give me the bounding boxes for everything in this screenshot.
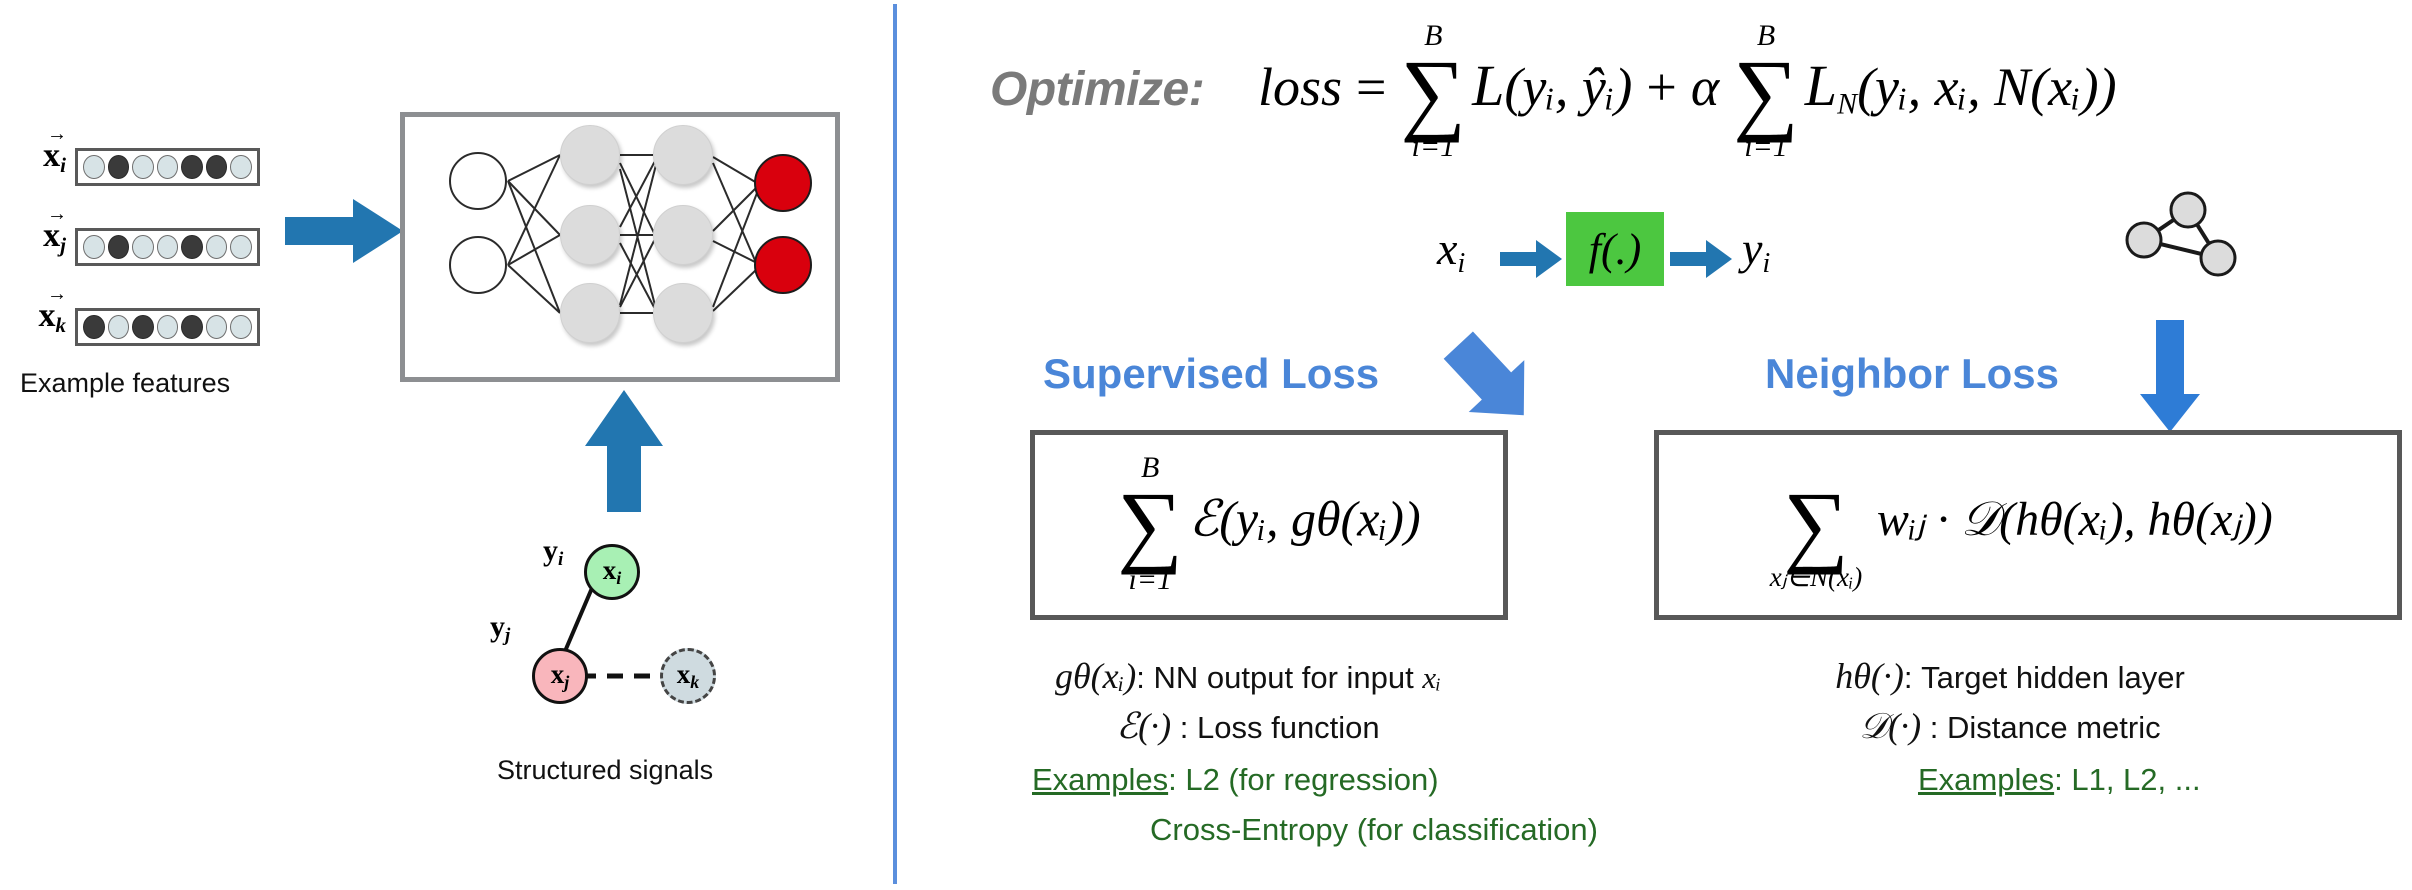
feature-dot-1-1: [108, 235, 130, 259]
feature-dot-0-1: [108, 155, 130, 179]
supervised-sum-lower: i=1: [1128, 563, 1172, 597]
feature-dot-0-6: [230, 155, 252, 179]
neighbor-examples-line-1: Examples: L1, L2, ...: [1918, 762, 2201, 798]
neighbor-examples-label: Examples: [1918, 762, 2054, 797]
supervised-loss-formula-box: B∑i=1ℰ(yᵢ, gθ(xᵢ)): [1030, 430, 1508, 620]
supervised-legend-1-text: Loss function: [1197, 710, 1380, 745]
feature-dot-0-0: [83, 155, 105, 179]
graph-node-xj-sub: j: [564, 672, 569, 692]
main-loss-equation: loss=B∑i=1L(yᵢ, ŷᵢ)+αB∑i=1LN(yᵢ, xᵢ, N(x…: [1258, 52, 2117, 130]
graph-node-xi-sub: i: [616, 568, 621, 588]
pipeline-function-label: f(.): [1589, 224, 1642, 275]
vector-arrow-icon: →: [6, 288, 66, 301]
pipeline-input-base: x: [1437, 223, 1457, 274]
neighbor-loss-title: Neighbor Loss: [1765, 350, 2059, 398]
neighbor-legend-0-symbol: hθ(·): [1835, 656, 1904, 696]
neural-network-panel: [400, 112, 840, 382]
neighbor-legend-0-text: Target hidden layer: [1921, 660, 2185, 695]
supervised-sum: B∑i=1: [1117, 487, 1183, 562]
main-eq-plus: +: [1632, 57, 1690, 117]
neighbor-formula-body: wᵢⱼ · 𝒟(hθ(xᵢ), hθ(xⱼ)): [1877, 493, 2273, 546]
feature-dot-2-3: [157, 315, 179, 339]
main-eq-alpha: α: [1691, 57, 1719, 117]
pipeline-input-sub: i: [1457, 248, 1465, 279]
feature-row-label-2: → xk: [6, 288, 66, 336]
feature-dot-1-6: [230, 235, 252, 259]
main-eq-sum-2-upper: B: [1757, 19, 1775, 53]
feature-dot-1-3: [157, 235, 179, 259]
network-input-node-1: [449, 236, 507, 294]
graph-node-xj: xj: [532, 648, 588, 704]
neighbor-examples-text-1: : L1, L2, ...: [2054, 762, 2200, 797]
supervised-examples-line-1: Examples: L2 (for regression): [1032, 762, 1439, 798]
main-eq-sum-2-lower: i=1: [1744, 130, 1788, 164]
network-hidden1-node-1: [560, 205, 620, 265]
pipeline-output-base: y: [1742, 223, 1762, 274]
main-eq-sum-1-upper: B: [1424, 19, 1442, 53]
network-hidden2-node-2: [653, 283, 713, 343]
feature-label-sub-2: k: [56, 313, 67, 337]
structured-signals-edges: [470, 530, 810, 710]
graph-label-yi-sub: i: [558, 549, 563, 570]
graph-label-yi-base: y: [543, 534, 558, 567]
neighbor-loss-formula: ∑xⱼ∈N(xᵢ)wᵢⱼ · 𝒟(hθ(xᵢ), hθ(xⱼ)): [1783, 487, 2273, 562]
supervised-examples-label: Examples: [1032, 762, 1168, 797]
feature-label-base-2: x: [39, 297, 56, 334]
main-eq-args-2: (yᵢ, xᵢ, N(xᵢ)): [1857, 57, 2116, 117]
feature-label-sub-1: j: [60, 233, 66, 257]
main-eq-equals: =: [1342, 57, 1400, 117]
graph-node-xi-base: x: [603, 555, 617, 585]
graph-label-yj: yj: [490, 610, 510, 647]
network-input-node-0: [449, 152, 507, 210]
graph-node-xk-base: x: [677, 659, 691, 689]
supervised-legend-1-symbol: ℰ(·): [1116, 706, 1171, 746]
graph-node-xk: xk: [660, 648, 716, 704]
supervised-loss-formula: B∑i=1ℰ(yᵢ, gθ(xᵢ)): [1117, 487, 1420, 562]
neighbor-loss-formula-box: ∑xⱼ∈N(xᵢ)wᵢⱼ · 𝒟(hθ(xᵢ), hθ(xⱼ)): [1654, 430, 2402, 620]
neighbor-legend-0-sep: :: [1904, 660, 1913, 695]
pipeline-arrow-in-icon: [1500, 240, 1562, 278]
main-eq-args-1: (yᵢ, ŷᵢ): [1504, 57, 1632, 117]
graph-node-xk-sub: k: [690, 672, 699, 692]
network-hidden2-node-0: [653, 125, 713, 185]
network-hidden1-node-0: [560, 125, 620, 185]
graph-node-xj-base: x: [551, 659, 565, 689]
feature-dot-2-4: [181, 315, 203, 339]
pipeline-output-label: yi: [1742, 222, 1770, 280]
neighbor-legend-1: 𝒟(·) : Distance metric: [1859, 705, 2160, 748]
features-to-network-arrow-icon: [285, 195, 405, 267]
supervised-legend-0: gθ(xᵢ): NN output for input xᵢ: [1055, 655, 1441, 697]
neighbor-legend-1-symbol: 𝒟(·): [1859, 706, 1921, 746]
feature-dot-2-5: [206, 315, 228, 339]
main-eq-sum-2: B∑i=1: [1733, 55, 1799, 130]
structured-signals-caption: Structured signals: [497, 755, 713, 786]
network-hidden2-node-1: [653, 205, 713, 265]
feature-dot-2-1: [108, 315, 130, 339]
supervised-loss-arrow-icon: [1434, 322, 1544, 434]
feature-dot-0-3: [157, 155, 179, 179]
feature-label-base-1: x: [43, 217, 60, 254]
feature-dot-0-4: [181, 155, 203, 179]
feature-dot-2-6: [230, 315, 252, 339]
main-eq-sum-1: B∑i=1: [1401, 55, 1467, 130]
feature-vector-box-2: [75, 308, 260, 346]
neighbor-legend-1-sep: :: [1930, 710, 1939, 745]
pipeline-input-label: xi: [1437, 222, 1465, 280]
feature-vector-box-1: [75, 228, 260, 266]
panel-divider: [893, 4, 897, 884]
neighbor-graph-icon: [2120, 178, 2250, 288]
optimize-label: Optimize:: [990, 62, 1204, 117]
network-output-node-1: [754, 236, 812, 294]
main-eq-cal-L-2: L: [1799, 53, 1837, 118]
feature-label-sub-0: i: [60, 153, 66, 177]
graph-label-yj-base: y: [490, 610, 505, 643]
main-eq-lhs: loss: [1258, 57, 1342, 117]
pipeline-arrow-out-icon: [1670, 240, 1732, 278]
main-eq-cal-L-1: L: [1466, 53, 1504, 118]
pipeline-function-box: f(.): [1566, 212, 1664, 286]
neighbor-loss-arrow-icon: [2140, 320, 2200, 432]
feature-row-label-1: → xj: [6, 208, 66, 256]
supervised-legend-0-text: NN output for input: [1154, 660, 1423, 695]
network-hidden1-node-2: [560, 283, 620, 343]
feature-dot-2-2: [132, 315, 154, 339]
feature-dot-2-0: [83, 315, 105, 339]
graph-label-yj-sub: j: [505, 625, 510, 646]
supervised-legend-0-sep: :: [1136, 660, 1145, 695]
main-eq-sum-1-lower: i=1: [1412, 130, 1456, 164]
supervised-sum-upper: B: [1141, 451, 1159, 485]
feature-dot-0-5: [206, 155, 228, 179]
supervised-formula-body: ℰ(yᵢ, gθ(xᵢ)): [1189, 491, 1421, 547]
graph-label-yi: yi: [543, 534, 563, 571]
supervised-legend-1: ℰ(·) : Loss function: [1116, 705, 1379, 747]
supervised-examples-text-1: : L2 (for regression): [1168, 762, 1439, 797]
supervised-legend-0-trailing: xᵢ: [1422, 660, 1441, 695]
neighbor-sum-lower: xⱼ∈N(xᵢ): [1770, 562, 1862, 593]
feature-label-base-0: x: [43, 137, 60, 174]
feature-dot-1-0: [83, 235, 105, 259]
neighbor-legend-1-text: Distance metric: [1947, 710, 2161, 745]
feature-dot-0-2: [132, 155, 154, 179]
feature-row-label-0: → xi: [6, 128, 66, 176]
main-eq-cal-L-2-sub: N: [1837, 87, 1857, 120]
supervised-loss-title: Supervised Loss: [1043, 350, 1379, 398]
supervised-legend-0-symbol: gθ(xᵢ): [1055, 656, 1136, 696]
signals-to-network-arrow-icon: [585, 390, 663, 512]
feature-dot-1-4: [181, 235, 203, 259]
supervised-legend-1-sep: :: [1180, 710, 1189, 745]
neighbor-sum: ∑xⱼ∈N(xᵢ): [1783, 487, 1849, 562]
example-features-caption: Example features: [20, 368, 230, 399]
neighbor-legend-0: hθ(·): Target hidden layer: [1835, 655, 2185, 697]
network-output-node-0: [754, 154, 812, 212]
supervised-examples-line-2: Cross-Entropy (for classification): [1150, 812, 1598, 848]
feature-dot-1-2: [132, 235, 154, 259]
graph-node-xi: xi: [584, 544, 640, 600]
pipeline-output-sub: i: [1762, 248, 1770, 279]
feature-vector-box-0: [75, 148, 260, 186]
feature-dot-1-5: [206, 235, 228, 259]
